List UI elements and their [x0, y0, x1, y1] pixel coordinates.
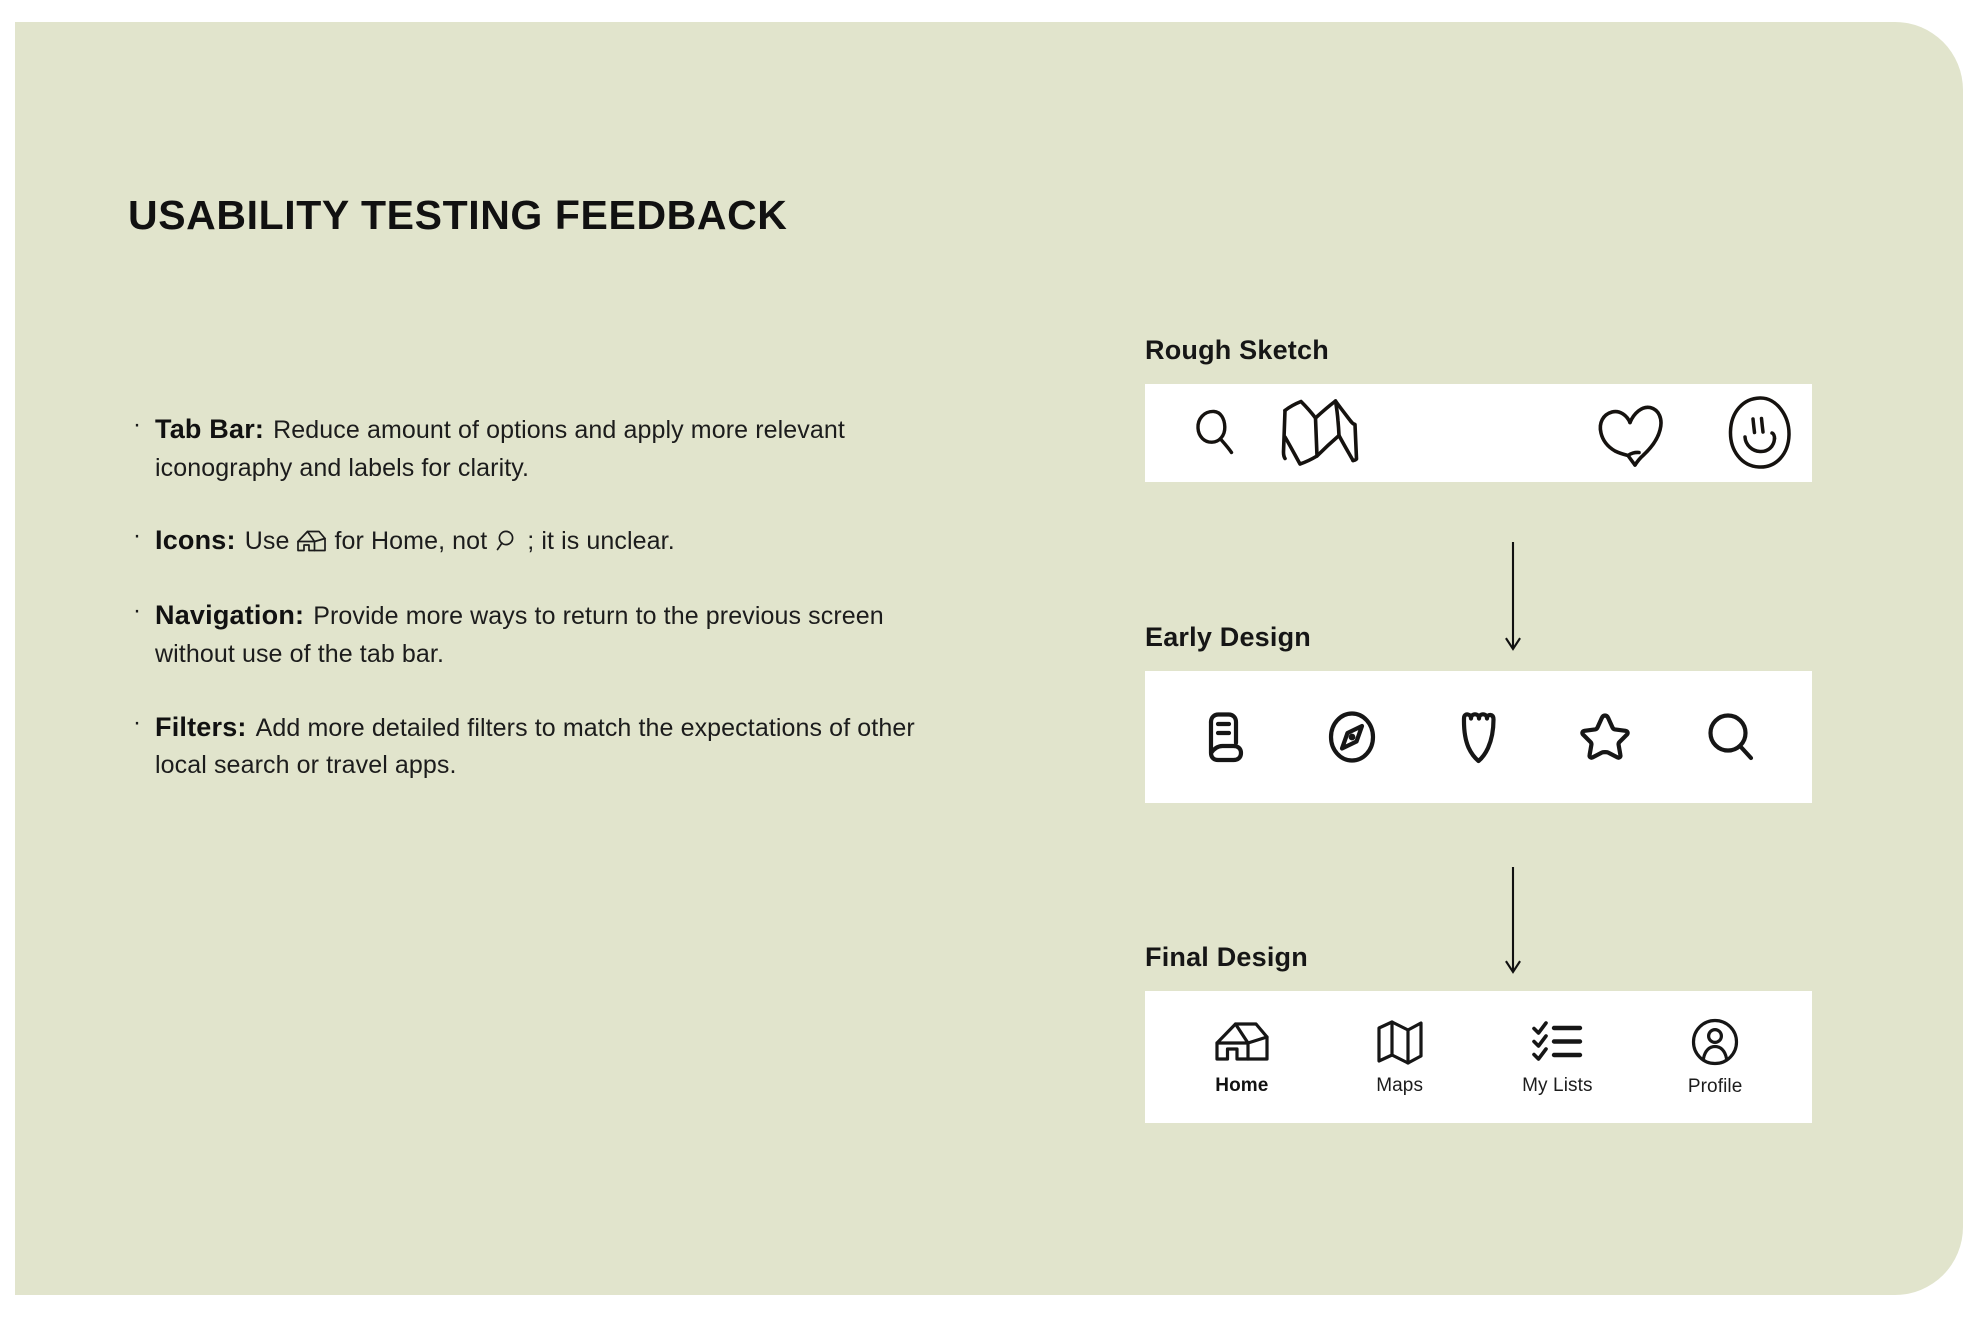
- feedback-text: Add more detailed filters to match the e…: [155, 714, 915, 780]
- shield-badge-icon[interactable]: [1423, 708, 1533, 766]
- map-icon: [1375, 1018, 1425, 1066]
- stage-heading: Rough Sketch: [1145, 335, 1812, 366]
- sketch-map-icon: [1262, 396, 1392, 470]
- rough-sketch-tabbar: [1145, 384, 1812, 482]
- profile-icon: [1690, 1017, 1740, 1067]
- stage-heading: Final Design: [1145, 942, 1812, 973]
- final-design-tabbar: Home Maps: [1145, 991, 1812, 1123]
- feedback-label: Tab Bar:: [155, 414, 264, 444]
- feedback-label: Navigation:: [155, 600, 304, 630]
- feedback-text-before: Use: [245, 527, 290, 555]
- home-icon: [1214, 1018, 1270, 1066]
- tab-profile[interactable]: Profile: [1651, 1017, 1779, 1098]
- feedback-text-after: ; it is unclear.: [527, 527, 675, 555]
- feedback-item-icons: · Icons:Usefor Home, not; it is unclear.: [133, 521, 953, 561]
- stage-final-design: Final Design Home: [1145, 942, 1812, 1123]
- compass-icon[interactable]: [1297, 709, 1407, 765]
- tab-label: Home: [1215, 1075, 1268, 1097]
- feedback-body: Navigation:Provide more ways to return t…: [155, 596, 953, 672]
- tab-label: My Lists: [1522, 1075, 1592, 1097]
- feedback-list: · Tab Bar:Reduce amount of options and a…: [133, 410, 953, 819]
- tab-home[interactable]: Home: [1178, 1018, 1306, 1097]
- tab-label: Maps: [1376, 1075, 1423, 1097]
- stage-early-design: Early Design: [1145, 622, 1812, 803]
- stage-heading: Early Design: [1145, 622, 1812, 653]
- feedback-item-filters: · Filters:Add more detailed filters to m…: [133, 708, 953, 784]
- bullet-icon: ·: [133, 596, 155, 626]
- page-title: USABILITY TESTING FEEDBACK: [128, 192, 788, 239]
- sketch-smiley-profile-icon: [1708, 393, 1812, 473]
- tab-my-lists[interactable]: My Lists: [1493, 1018, 1621, 1097]
- feedback-item-tab-bar: · Tab Bar:Reduce amount of options and a…: [133, 410, 953, 486]
- feedback-item-navigation: · Navigation:Provide more ways to return…: [133, 596, 953, 672]
- slide-card: USABILITY TESTING FEEDBACK · Tab Bar:Red…: [15, 22, 1963, 1295]
- star-icon[interactable]: [1550, 710, 1660, 764]
- feedback-label: Icons:: [155, 525, 236, 555]
- tab-label: Profile: [1688, 1076, 1743, 1098]
- feedback-body: Tab Bar:Reduce amount of options and app…: [155, 410, 953, 486]
- search-icon: [494, 528, 520, 554]
- feedback-text-middle: for Home, not: [334, 527, 487, 555]
- home-icon: [296, 528, 327, 554]
- checklist-icon: [1530, 1018, 1584, 1066]
- sketch-heart-icon: [1552, 397, 1708, 469]
- search-icon[interactable]: [1676, 709, 1786, 765]
- bullet-icon: ·: [133, 410, 155, 440]
- feedback-label: Filters:: [155, 712, 247, 742]
- feedback-body: Filters:Add more detailed filters to mat…: [155, 708, 953, 784]
- bullet-icon: ·: [133, 521, 155, 551]
- feedback-body: Icons:Usefor Home, not; it is unclear.: [155, 521, 953, 561]
- stage-rough-sketch: Rough Sketch: [1145, 335, 1812, 482]
- bullet-icon: ·: [133, 708, 155, 738]
- scroll-list-icon[interactable]: [1171, 709, 1281, 765]
- early-design-tabbar: [1145, 671, 1812, 803]
- sketch-search-icon: [1165, 402, 1262, 464]
- tab-maps[interactable]: Maps: [1336, 1018, 1464, 1097]
